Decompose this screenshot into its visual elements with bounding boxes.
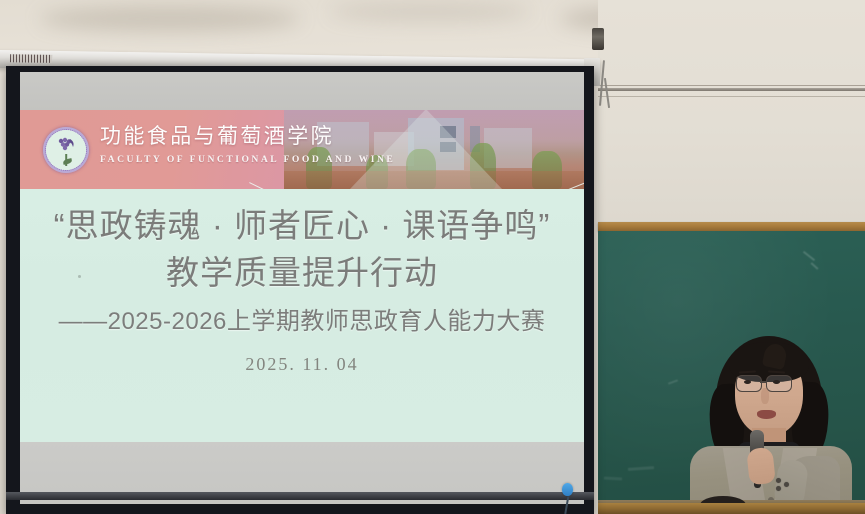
- wooden-trim: [598, 222, 865, 231]
- glasses-bridge: [760, 381, 767, 383]
- slide-subtitle: ——2025-2026上学期教师思政育人能力大赛: [20, 301, 584, 336]
- lecture-hall-screenshot: 功能食品与葡萄酒学院 FACULTY OF FUNCTIONAL FOOD AN…: [0, 0, 865, 514]
- slide-title-line-2: 教学质量提升行动: [20, 246, 584, 294]
- banner-text-block: 功能食品与葡萄酒学院 FACULTY OF FUNCTIONAL FOOD AN…: [100, 126, 395, 165]
- slide-title-line-1: “思政铸魂 · 师者匠心 · 课语争鸣”: [20, 199, 584, 247]
- screen-speck: [78, 275, 81, 278]
- sleeve-button: [776, 478, 781, 483]
- hand: [746, 447, 776, 486]
- projection-screen-surface[interactable]: 功能食品与葡萄酒学院 FACULTY OF FUNCTIONAL FOOD AN…: [20, 72, 584, 504]
- chalk-smudge: [628, 466, 654, 471]
- glasses-right-lens: [766, 375, 792, 392]
- letterbox-bar-top: [20, 72, 584, 110]
- mouth: [757, 410, 776, 419]
- chalk-smudge: [810, 262, 818, 270]
- slide-body: “思政铸魂 · 师者匠心 · 课语争鸣” 教学质量提升行动 ——2025-202…: [20, 189, 584, 442]
- nose: [761, 388, 769, 404]
- screen-mount-bracket: [592, 28, 604, 50]
- eye-right: [773, 380, 780, 384]
- chalk-smudge: [803, 251, 815, 261]
- screen-bottom-weight-bar: [6, 492, 594, 500]
- wall-seam-line: [598, 85, 865, 86]
- chalk-smudge: [604, 477, 622, 481]
- eye-left: [744, 380, 751, 384]
- right-wall-panel: [598, 0, 865, 224]
- slide-banner: 功能食品与葡萄酒学院 FACULTY OF FUNCTIONAL FOOD AN…: [20, 110, 584, 189]
- faculty-name-cn: 功能食品与葡萄酒学院: [100, 126, 395, 147]
- grape-cluster-icon: [55, 137, 77, 153]
- sleeve-button: [784, 482, 789, 487]
- presenter: [672, 330, 865, 514]
- chalk-tray: [598, 503, 865, 514]
- wall-conduit: [598, 88, 865, 91]
- faculty-grape-emblem-icon: [43, 127, 89, 173]
- wall-stain: [40, 6, 300, 32]
- blue-clip: [562, 483, 573, 496]
- wall-stain: [330, 2, 530, 22]
- slide-date: 2025. 11. 04: [20, 354, 584, 375]
- inventory-label: [10, 54, 52, 63]
- sleeve-button: [776, 486, 781, 491]
- wall-seam-line: [598, 96, 865, 97]
- presentation-slide: 功能食品与葡萄酒学院 FACULTY OF FUNCTIONAL FOOD AN…: [20, 110, 584, 442]
- faculty-name-en: FACULTY OF FUNCTIONAL FOOD AND WINE: [100, 154, 395, 165]
